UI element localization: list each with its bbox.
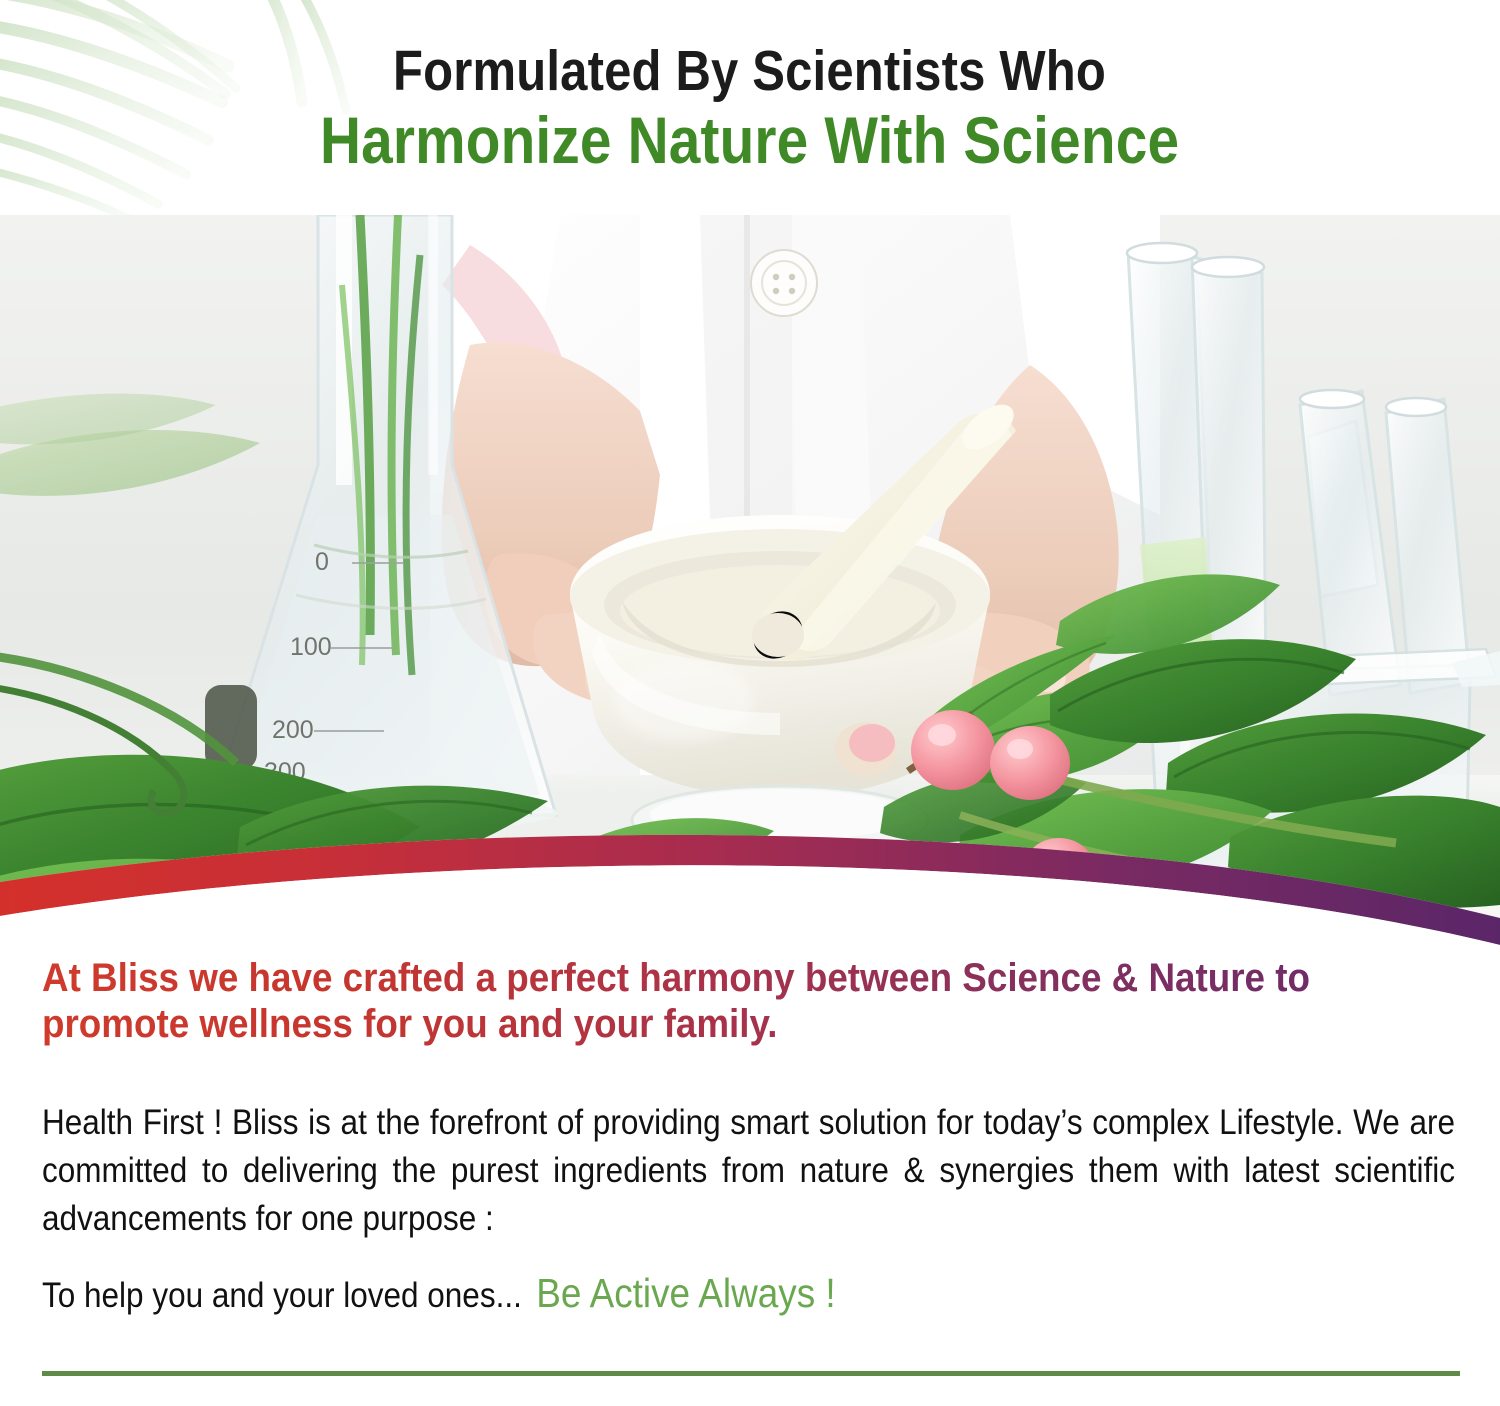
footer-divider-rule <box>42 1371 1460 1376</box>
body-content: At Bliss we have crafted a perfect harmo… <box>42 955 1462 1320</box>
header-section: Formulated By Scientists Who Harmonize N… <box>0 0 1500 215</box>
headline-primary: Formulated By Scientists Who <box>394 40 1107 102</box>
lede-heading: At Bliss we have crafted a perfect harmo… <box>42 955 1459 1047</box>
promo-banner: Formulated By Scientists Who Harmonize N… <box>0 0 1500 1406</box>
headline-accent: Harmonize Nature With Science <box>320 104 1179 176</box>
closing-line: To help you and your loved ones...Be Act… <box>42 1269 1455 1320</box>
body-paragraph: Health First ! Bliss is at the forefront… <box>42 1099 1455 1243</box>
hero-photo: 0 100 200 300 <box>0 215 1500 935</box>
header-text-block: Formulated By Scientists Who Harmonize N… <box>0 0 1500 215</box>
closing-accent: Be Active Always ! <box>536 1270 835 1316</box>
closing-prefix: To help you and your loved ones... <box>42 1276 522 1315</box>
